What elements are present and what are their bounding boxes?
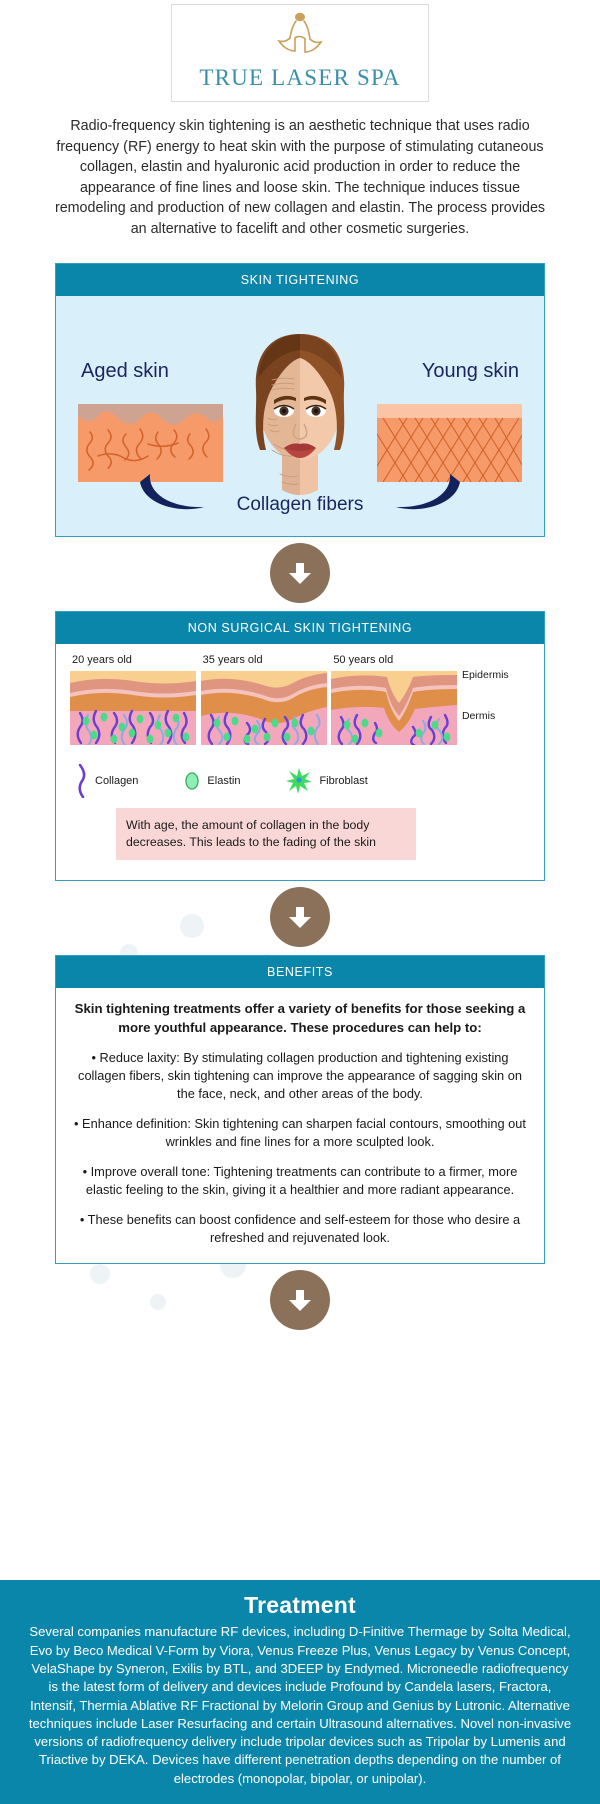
woman-lotus-icon [172, 11, 428, 63]
skin-tightening-illustration: Aged skin Young skin [56, 296, 544, 536]
footer-paragraph: Several companies manufacture RF devices… [28, 1623, 572, 1788]
card-skin-tightening: SKIN TIGHTENING Aged skin Young skin [55, 263, 545, 537]
down-arrow-icon-1 [270, 543, 330, 603]
brand-name: TRUE LASER SPA [172, 65, 428, 91]
section-header-non-surgical: NON SURGICAL SKIN TIGHTENING [56, 612, 544, 644]
treatment-footer: Treatment Several companies manufacture … [0, 1580, 600, 1804]
legend-label: Elastin [207, 775, 240, 787]
fibroblast-star-icon [286, 768, 312, 794]
aged-skin-swatch-icon [78, 404, 223, 482]
legend-item-collagen: Collagen [76, 764, 138, 798]
aged-skin-label: Aged skin [81, 360, 169, 383]
age-panel-title: 35 years old [201, 654, 329, 666]
flow-arrow-1 [0, 537, 600, 611]
legend-row: Collagen Elastin Fibroblast [76, 764, 530, 798]
legend-label: Fibroblast [319, 775, 367, 787]
footer-title: Treatment [28, 1592, 572, 1619]
skin-cross-section-20-icon [70, 671, 196, 745]
collagen-curve-icon [76, 764, 88, 798]
young-skin-swatch-icon [377, 404, 522, 482]
collagen-fibers-caption: Collagen fibers [56, 494, 544, 516]
legend-label: Collagen [95, 775, 138, 787]
benefits-lead-text: Skin tightening treatments offer a varie… [72, 1000, 528, 1037]
legend-item-fibroblast: Fibroblast [286, 768, 367, 794]
legend-item-elastin: Elastin [184, 771, 240, 791]
flow-arrow-3 [0, 1264, 600, 1338]
elastin-oval-icon [184, 771, 200, 791]
section-header-benefits: BENEFITS [56, 956, 544, 988]
down-arrow-icon-2 [270, 887, 330, 947]
age-panel-35: 35 years old [201, 654, 329, 750]
benefit-item: • Improve overall tone: Tightening treat… [72, 1163, 528, 1199]
intro-paragraph: Radio-frequency skin tightening is an ae… [50, 116, 550, 239]
down-arrow-icon-3 [270, 1270, 330, 1330]
layer-label-epidermis: Epidermis [462, 670, 530, 681]
benefit-item: • Reduce laxity: By stimulating collagen… [72, 1049, 528, 1103]
layer-label-dermis: Dermis [462, 711, 530, 722]
brand-logo: TRUE LASER SPA [171, 4, 429, 102]
age-panel-20: 20 years old [70, 654, 198, 750]
section-header-skin-tightening: SKIN TIGHTENING [56, 264, 544, 296]
card-non-surgical: NON SURGICAL SKIN TIGHTENING 20 years ol… [55, 611, 545, 881]
skin-cross-section-50-icon [331, 671, 457, 745]
aging-note-box: With age, the amount of collagen in the … [116, 808, 416, 860]
benefit-item: • Enhance definition: Skin tightening ca… [72, 1115, 528, 1151]
skin-cross-section-35-icon [201, 671, 327, 745]
age-comparison-row: 20 years old [70, 654, 530, 750]
benefit-item: • These benefits can boost confidence an… [72, 1211, 528, 1247]
flow-arrow-2 [0, 881, 600, 955]
skin-layer-labels: Epidermis Dermis [462, 654, 530, 721]
age-panel-title: 50 years old [331, 654, 459, 666]
age-panel-title: 20 years old [70, 654, 198, 666]
card-benefits: BENEFITS Skin tightening treatments offe… [55, 955, 545, 1264]
age-panel-50: 50 years old [331, 654, 459, 750]
young-skin-label: Young skin [422, 360, 519, 383]
